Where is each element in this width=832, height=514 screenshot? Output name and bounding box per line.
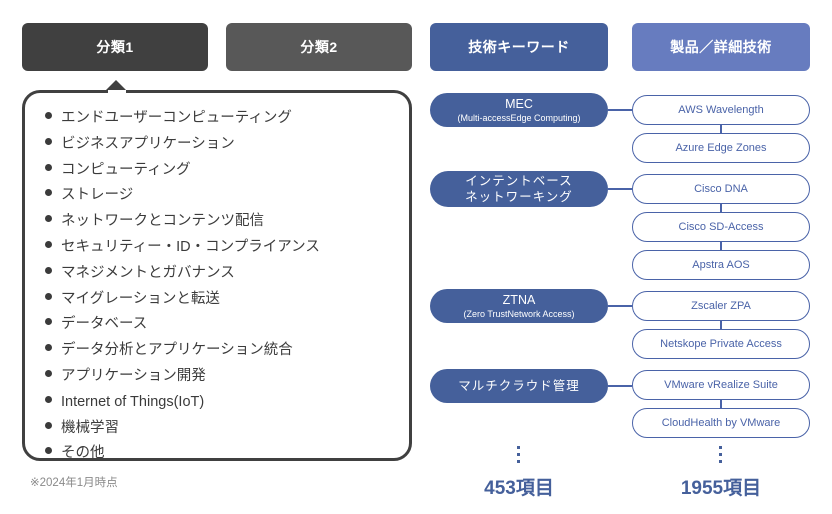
product-pill-label: Azure Edge Zones xyxy=(675,142,766,154)
list-item-label: マネジメントとガバナンス xyxy=(61,261,235,287)
connector-mec xyxy=(608,109,632,111)
product-pill[interactable]: Zscaler ZPA xyxy=(632,291,810,321)
connector-multicloud xyxy=(608,385,632,387)
product-pill-label: AWS Wavelength xyxy=(678,104,763,116)
list-item-label: ネットワークとコンテンツ配信 xyxy=(61,209,264,235)
bullet-icon xyxy=(45,396,52,403)
infographic-canvas: 分類1 分類2 技術キーワード 製品／詳細技術 エンドユーザーコンピューティング… xyxy=(0,0,832,514)
product-pill-label: Cisco SD-Access xyxy=(679,221,764,233)
list-item[interactable]: マイグレーションと転送 xyxy=(45,287,395,313)
list-item[interactable]: ネットワークとコンテンツ配信 xyxy=(45,209,395,235)
list-item[interactable]: Internet of Things(IoT) xyxy=(45,390,395,416)
bullet-icon xyxy=(45,370,52,377)
product-pill[interactable]: CloudHealth by VMware xyxy=(632,408,810,438)
bullet-icon xyxy=(45,318,52,325)
vertical-ellipsis-product xyxy=(719,446,722,467)
keyword-pill-title: マルチクラウド管理 xyxy=(458,378,580,394)
list-item-label: ビジネスアプリケーション xyxy=(61,132,235,158)
category-list: エンドユーザーコンピューティング ビジネスアプリケーション コンピューティング … xyxy=(45,106,395,467)
product-pill-label: Netskope Private Access xyxy=(660,338,782,350)
keyword-pill-title: MEC xyxy=(505,97,533,112)
product-pill[interactable]: Cisco DNA xyxy=(632,174,810,204)
bullet-icon xyxy=(45,267,52,274)
product-pill-label: Cisco DNA xyxy=(694,183,748,195)
keyword-pill-subtitle: (Multi-accessEdge Computing) xyxy=(457,112,580,124)
list-item[interactable]: コンピューティング xyxy=(45,158,395,184)
list-item-label: その他 xyxy=(61,441,105,467)
product-pill[interactable]: Netskope Private Access xyxy=(632,329,810,359)
connector-intent xyxy=(608,188,632,190)
keyword-pill-title: インテントベース xyxy=(465,173,572,189)
list-item-label: Internet of Things(IoT) xyxy=(61,390,204,416)
vertical-ellipsis-keyword xyxy=(517,446,520,467)
footnote-text: ※2024年1月時点 xyxy=(30,474,118,490)
list-item[interactable]: データベース xyxy=(45,312,395,338)
product-pill[interactable]: AWS Wavelength xyxy=(632,95,810,125)
product-pill[interactable]: Apstra AOS xyxy=(632,250,810,280)
list-item-label: アプリケーション開発 xyxy=(61,364,206,390)
bullet-icon xyxy=(45,241,52,248)
connector-product-3-4 xyxy=(720,203,722,212)
list-item-label: 機械学習 xyxy=(61,416,119,442)
header-category-2[interactable]: 分類2 xyxy=(226,23,412,71)
connector-product-4-5 xyxy=(720,241,722,250)
connector-ztna xyxy=(608,305,632,307)
header-category-1[interactable]: 分類1 xyxy=(22,23,208,71)
list-item[interactable]: セキュリティー・ID・コンプライアンス xyxy=(45,235,395,261)
product-pill[interactable]: Azure Edge Zones xyxy=(632,133,810,163)
list-item[interactable]: データ分析とアプリケーション統合 xyxy=(45,338,395,364)
connector-product-1-2 xyxy=(720,124,722,133)
keyword-pill-ztna[interactable]: ZTNA (Zero TrustNetwork Access) xyxy=(430,289,608,323)
bullet-icon xyxy=(45,164,52,171)
keyword-pill-mec[interactable]: MEC (Multi-accessEdge Computing) xyxy=(430,93,608,127)
bullet-icon xyxy=(45,422,52,429)
bullet-icon xyxy=(45,189,52,196)
list-item-label: ストレージ xyxy=(61,183,133,209)
product-pill[interactable]: VMware vRealize Suite xyxy=(632,370,810,400)
keyword-pill-title-line2: ネットワーキング xyxy=(465,189,573,205)
bullet-icon xyxy=(45,344,52,351)
bullet-icon xyxy=(45,112,52,119)
bullet-icon xyxy=(45,293,52,300)
list-item-label: マイグレーションと転送 xyxy=(61,287,220,313)
list-item[interactable]: その他 xyxy=(45,441,395,467)
product-pill-label: CloudHealth by VMware xyxy=(662,417,781,429)
list-item-label: エンドユーザーコンピューティング xyxy=(61,106,292,132)
list-item-label: データベース xyxy=(61,312,147,338)
list-item[interactable]: ビジネスアプリケーション xyxy=(45,132,395,158)
header-product-detail[interactable]: 製品／詳細技術 xyxy=(632,23,810,71)
keyword-pill-subtitle: (Zero TrustNetwork Access) xyxy=(463,308,574,320)
product-pill-label: VMware vRealize Suite xyxy=(664,379,778,391)
keyword-total-count: 453項目 xyxy=(430,473,608,500)
list-item[interactable]: ストレージ xyxy=(45,183,395,209)
bullet-icon xyxy=(45,138,52,145)
product-pill[interactable]: Cisco SD-Access xyxy=(632,212,810,242)
category-list-box: エンドユーザーコンピューティング ビジネスアプリケーション コンピューティング … xyxy=(22,90,412,461)
header-tech-keyword[interactable]: 技術キーワード xyxy=(430,23,608,71)
keyword-pill-multicloud-management[interactable]: マルチクラウド管理 xyxy=(430,369,608,403)
list-item-label: データ分析とアプリケーション統合 xyxy=(61,338,293,364)
list-item-label: コンピューティング xyxy=(61,158,191,184)
list-item[interactable]: マネジメントとガバナンス xyxy=(45,261,395,287)
bullet-icon xyxy=(45,447,52,454)
connector-product-6-7 xyxy=(720,320,722,329)
bullet-icon xyxy=(45,215,52,222)
list-item[interactable]: エンドユーザーコンピューティング xyxy=(45,106,395,132)
product-pill-label: Zscaler ZPA xyxy=(691,300,751,312)
list-item[interactable]: 機械学習 xyxy=(45,416,395,442)
keyword-pill-title: ZTNA xyxy=(503,293,536,308)
product-total-count: 1955項目 xyxy=(632,473,810,500)
list-item-label: セキュリティー・ID・コンプライアンス xyxy=(61,235,320,261)
pointer-mask xyxy=(108,90,126,95)
list-item[interactable]: アプリケーション開発 xyxy=(45,364,395,390)
product-pill-label: Apstra AOS xyxy=(692,259,749,271)
keyword-pill-intent-based-networking[interactable]: インテントベース ネットワーキング xyxy=(430,171,608,207)
